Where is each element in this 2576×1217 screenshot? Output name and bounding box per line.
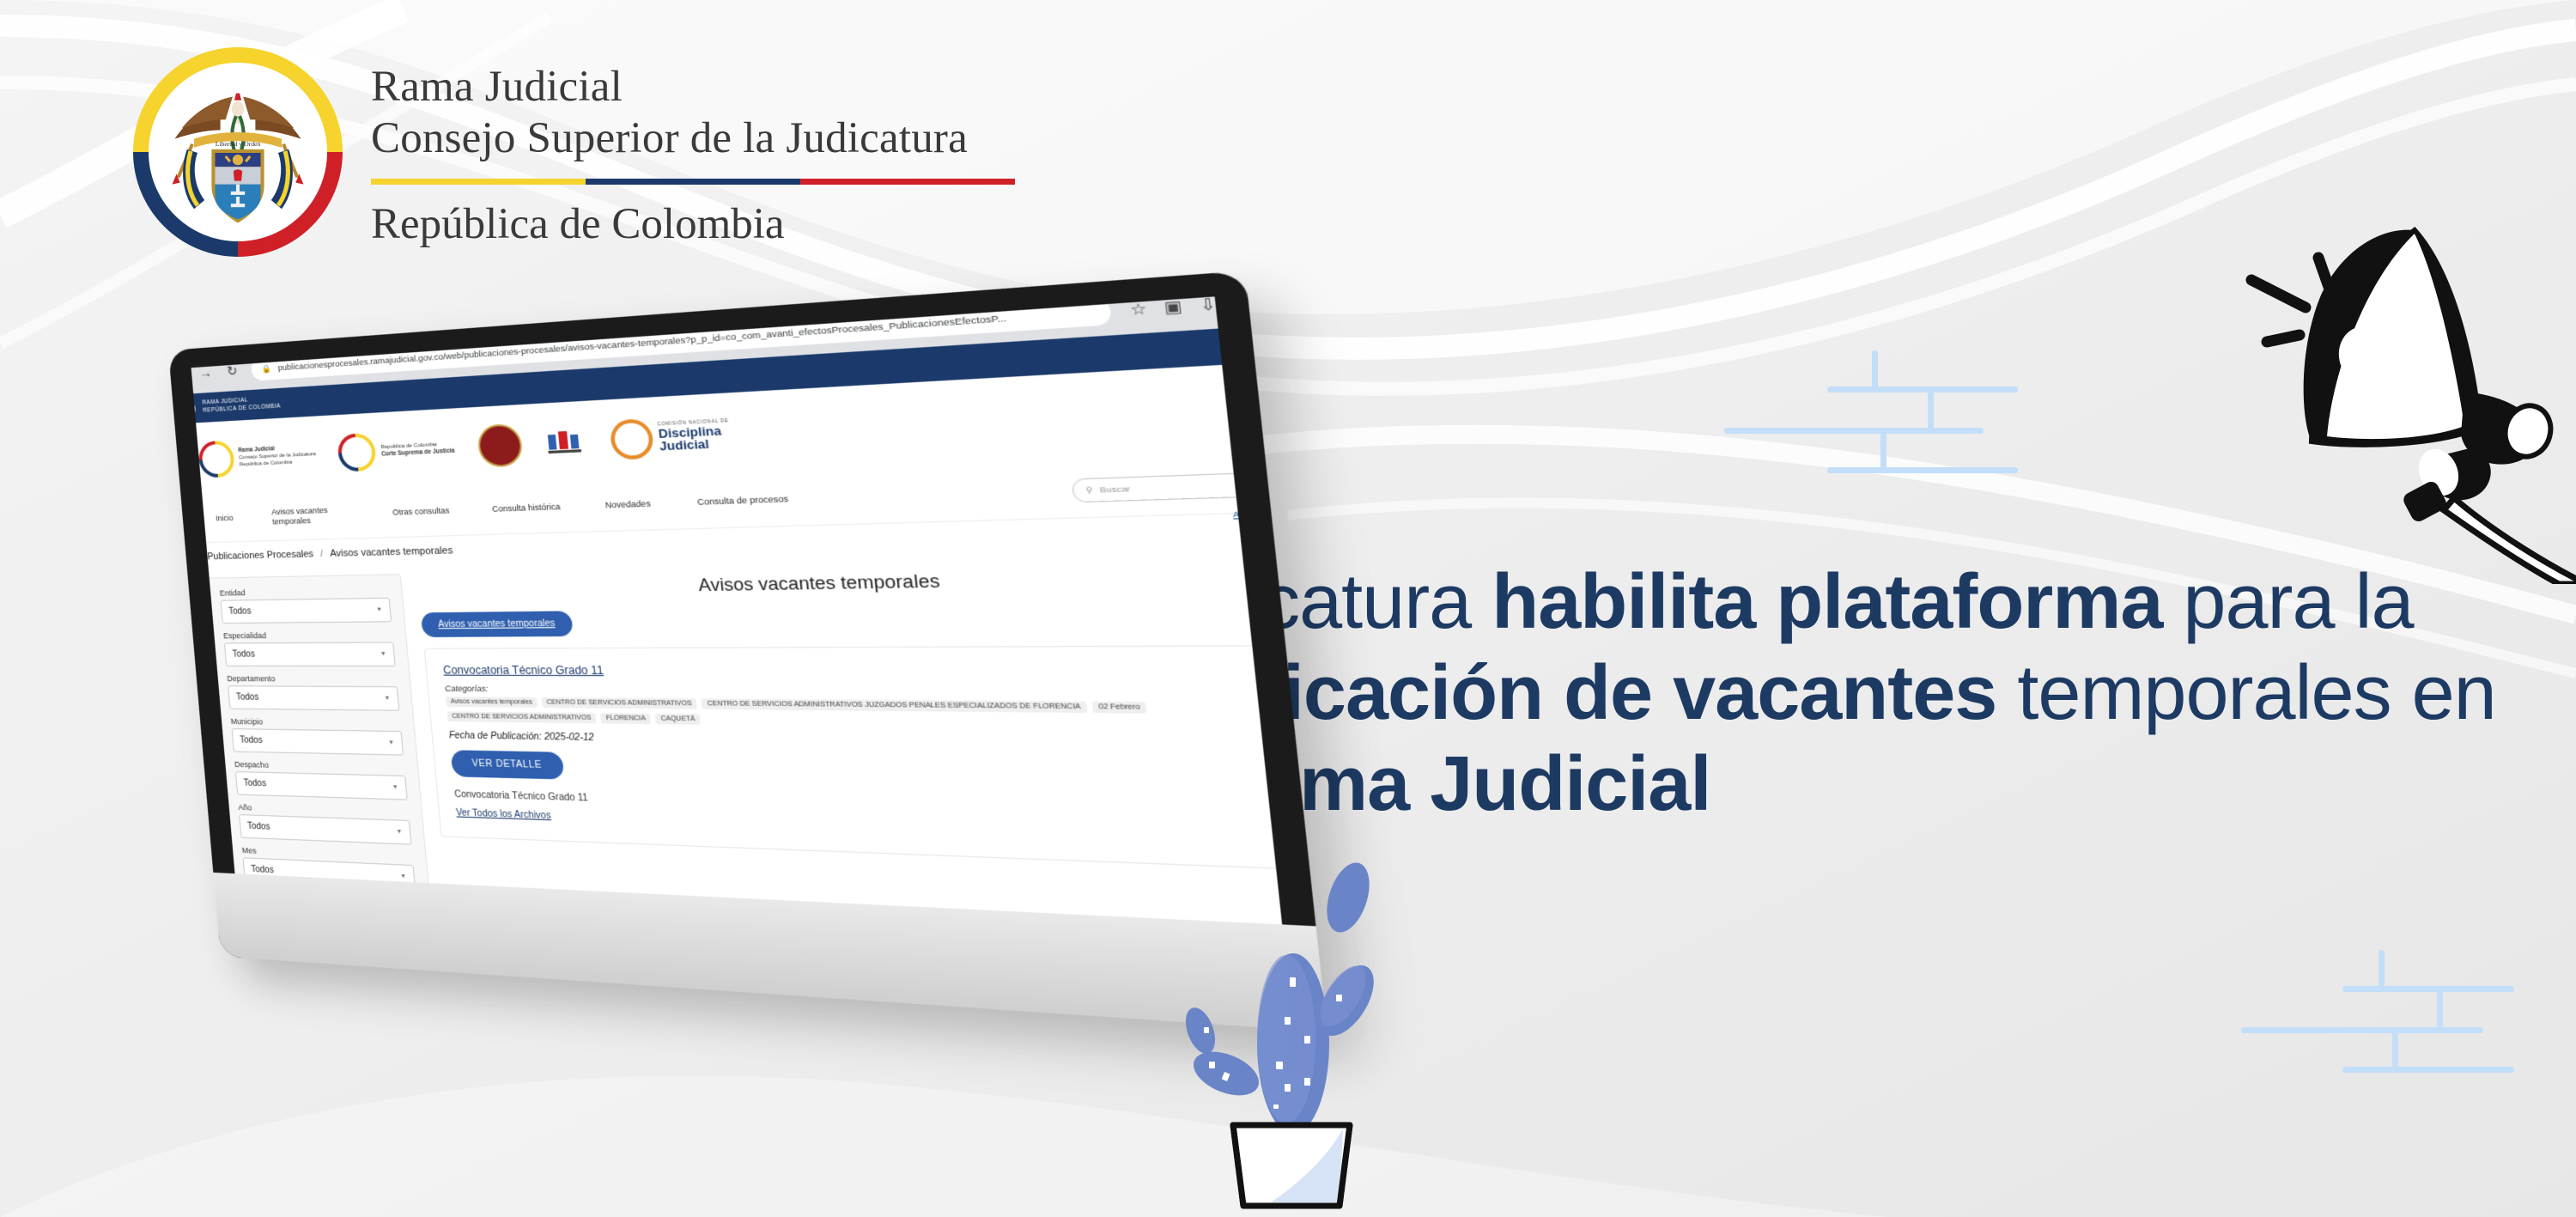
brand-header: Libertad y Orden [127,41,1015,263]
breadcrumb-root[interactable]: Publicaciones Procesales [207,549,314,562]
star-icon[interactable]: ☆ [1127,299,1151,319]
chevron-down-icon: ▼ [376,606,383,612]
filter-label-despacho: Despacho [234,760,405,773]
chevron-down-icon: ▼ [384,696,391,702]
ver-archivos-link[interactable]: Ver Todos los Archivos [456,808,551,822]
filter-select-ano[interactable]: Todos ▼ [239,814,411,845]
publication-date-label: Fecha de Publicación: [449,731,543,743]
rama-judicial-seal-icon [197,440,235,478]
filter-select-especialidad[interactable]: Todos ▼ [224,642,396,666]
brand-line-2: Consejo Superior de la Judicatura [371,113,1015,164]
filter-select-departamento[interactable]: Todos ▼ [228,685,399,711]
chevron-down-icon: ▼ [392,784,398,791]
breadcrumb-current: Avisos vacantes temporales [330,545,453,559]
filter-value-entidad: Todos [228,606,252,617]
filters-panel: Entidad Todos ▼ Especialidad Todos ▼ Dep… [206,574,434,924]
headline-part-2: habilita plataforma [1492,559,2162,645]
brick-line-motif-top [1717,344,2026,507]
download-icon[interactable]: ⇩ [1195,296,1220,314]
logo-disciplina-judicial: COMISIÓN NACIONAL DE Disciplina Judicial [609,414,732,459]
disciplina-judicial-seal-icon [609,418,654,460]
filter-label-departamento: Departamento [227,674,397,684]
nav-item-consulta-historica[interactable]: Consulta histórica [492,502,562,515]
consejo-de-estado-icon [545,425,587,459]
publication-date-value: 2025-02-12 [544,732,594,743]
desktop-monitor: ← → ↻ 🔒 publicacionesprocesales.ramajudi… [168,350,1130,986]
browser-window: ← → ↻ 🔒 publicacionesprocesales.ramajudi… [191,296,1283,924]
nav-item-inicio[interactable]: Inicio [216,514,234,524]
corte-suprema-seal-icon [337,433,377,472]
colombia-tricolor-rule [371,179,1015,185]
logo-rama-judicial: Rama Judicial Consejo Superior de la Jud… [197,435,318,478]
topbar-text: RAMA JUDICIALREPÚBLICA DE COLOMBIA [202,395,281,415]
breadcrumb-separator: / [320,549,324,560]
chevron-down-icon: ▼ [388,739,395,746]
megaphone-icon [2181,215,2576,584]
brand-text-block: Rama Judicial Consejo Superior de la Jud… [371,56,1015,247]
filter-select-despacho[interactable]: Todos ▼ [235,771,408,800]
cactus-plant-icon [1175,859,1432,1217]
tag: FLORENCIA [600,713,651,724]
brand-line-3: República de Colombia [371,200,1015,248]
chevron-down-icon: ▼ [396,829,403,836]
brand-line-1: Rama Judicial [371,61,1015,113]
publication-date: Fecha de Publicación: 2025-02-12 [449,731,1283,755]
nav-item-otras-consultas[interactable]: Otras consultas [392,506,450,518]
filter-label-municipio: Municipio [230,717,401,728]
logo-consejo-de-estado [545,425,587,459]
filter-select-entidad[interactable]: Todos ▼ [221,598,392,624]
corte-constitucional-seal-icon [477,423,524,468]
lock-icon: 🔒 [261,363,271,374]
tag: CENTRO DE SERVICIOS ADMINISTRATIVOS [542,697,698,709]
svg-text:Libertad y Orden: Libertad y Orden [216,140,261,148]
reload-icon[interactable]: ↻ [224,362,240,379]
logo-rama-judicial-text: Rama Judicial Consejo Superior de la Jud… [238,443,317,469]
search-input[interactable]: ⚲ Buscar [1072,472,1260,502]
result-card: Convocatoria Técnico Grado 11 Categorías… [424,645,1283,871]
categories-label: Categorías: [445,684,1280,698]
rama-judicial-emblem-icon: Libertad y Orden [127,41,349,263]
filter-label-entidad: Entidad [219,586,389,598]
logo-corte-suprema: República de Colombia Corte Suprema de J… [337,429,456,472]
results-main: Avisos vacantes temporales Avisos vacant… [417,556,1282,924]
monitor-body: ← → ↻ 🔒 publicacionesprocesales.ramajudi… [168,271,1327,1031]
filter-select-municipio[interactable]: Todos ▼ [232,728,404,756]
nav-item-avisos-vacantes[interactable]: Avisos vacantes temporales [271,505,353,527]
page-title: Avisos vacantes temporales [417,564,1282,599]
filter-label-especialidad: Especialidad [223,630,393,641]
filter-value-departamento: Todos [236,692,259,702]
chevron-down-icon: ▼ [400,873,407,880]
tag: 02 Febrero [1092,702,1147,714]
filter-value-municipio: Todos [240,735,263,745]
nav-item-novedades[interactable]: Novedades [605,499,651,511]
ver-detalle-button[interactable]: VER DETALLE [451,750,564,779]
tag: CENTRO DE SERVICIOS ADMINISTRATIVOS [447,711,597,723]
result-title-link[interactable]: Convocatoria Técnico Grado 11 [442,664,1277,679]
page-headline: Judicatura habilita plataforma para la p… [1123,557,2549,831]
tag: Avisos vacantes temporales [446,697,538,708]
filter-value-especialidad: Todos [232,649,255,659]
category-tags: Avisos vacantes temporales CENTRO DE SER… [446,697,1282,732]
page-content: Entidad Todos ▼ Especialidad Todos ▼ Dep… [191,546,1283,924]
logo-corte-constitucional [477,423,524,468]
chevron-down-icon: ▼ [380,651,386,657]
arrow-right-icon[interactable]: → [197,364,214,380]
monitor-screen: ← → ↻ 🔒 publicacionesprocesales.ramajudi… [191,296,1283,924]
brick-line-motif-bottom [2233,945,2542,1108]
nav-item-consulta-procesos[interactable]: Consulta de procesos [697,495,789,508]
avisos-vacantes-pill[interactable]: Avisos vacantes temporales [421,611,574,637]
search-placeholder: Buscar [1099,484,1130,494]
tag: CAQUETÁ [655,714,701,725]
banner-stage: Libertad y Orden [0,0,2576,1217]
extension-icon[interactable]: ▣ [1161,296,1185,317]
filter-value-despacho: Todos [243,778,266,788]
disciplina-judicial-text: COMISIÓN NACIONAL DE Disciplina Judicial [658,419,732,453]
accessibility-link[interactable]: Accesible [1232,508,1274,520]
rama-judicial-seal-icon [191,399,197,419]
search-icon: ⚲ [1085,485,1093,495]
result-subtitle: Convocatoria Técnico Grado 11 [454,789,1282,825]
filter-value-ano: Todos [247,822,270,832]
logo-corte-suprema-text: República de Colombia Corte Suprema de J… [380,440,455,459]
tag: CENTRO DE SERVICIOS ADMINISTRATIVOS JUZG… [702,698,1087,713]
